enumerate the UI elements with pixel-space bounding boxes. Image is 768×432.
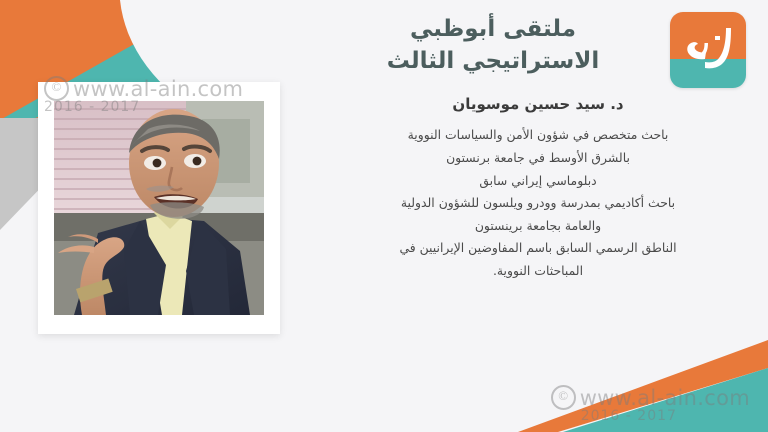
list-item: باحث أكاديمي بمدرسة وودرو ويلسون للشؤون … [338,192,738,215]
slide-canvas: ملتقى أبوظبي الاستراتيجي الثالث د. سيد ح… [0,0,768,432]
watermark-url: www.al-ain.com [580,386,750,410]
decor-bottom-right-teal-triangle [533,360,768,432]
speaker-name: د. سيد حسين موسويان [338,94,738,115]
watermark-years: 2016 - 2017 [581,408,750,424]
speaker-photo-card [38,82,280,334]
copyright-icon: © [551,385,576,410]
list-item: والعامة بجامعة برينستون [338,215,738,238]
watermark-bottom: © www.al-ain.com 2016 - 2017 [551,385,750,424]
list-item: الناطق الرسمي السابق باسم المفاوضين الإي… [338,237,738,260]
page-title: ملتقى أبوظبي الاستراتيجي الثالث [338,14,738,77]
watermark-bottom-row: © www.al-ain.com [551,385,750,410]
list-item: المباحثات النووية. [338,260,738,283]
list-item: بالشرق الأوسط في جامعة برنستون [338,147,738,170]
list-item: دبلوماسي إيراني سابق [338,170,738,193]
speaker-text-column: ملتقى أبوظبي الاستراتيجي الثالث د. سيد ح… [338,14,738,283]
speaker-photo [54,101,264,315]
list-item: باحث متخصص في شؤون الأمن والسياسات النوو… [338,124,738,147]
speaker-bio-list: باحث متخصص في شؤون الأمن والسياسات النوو… [338,124,738,282]
decor-bottom-right-orange-band [518,340,768,432]
